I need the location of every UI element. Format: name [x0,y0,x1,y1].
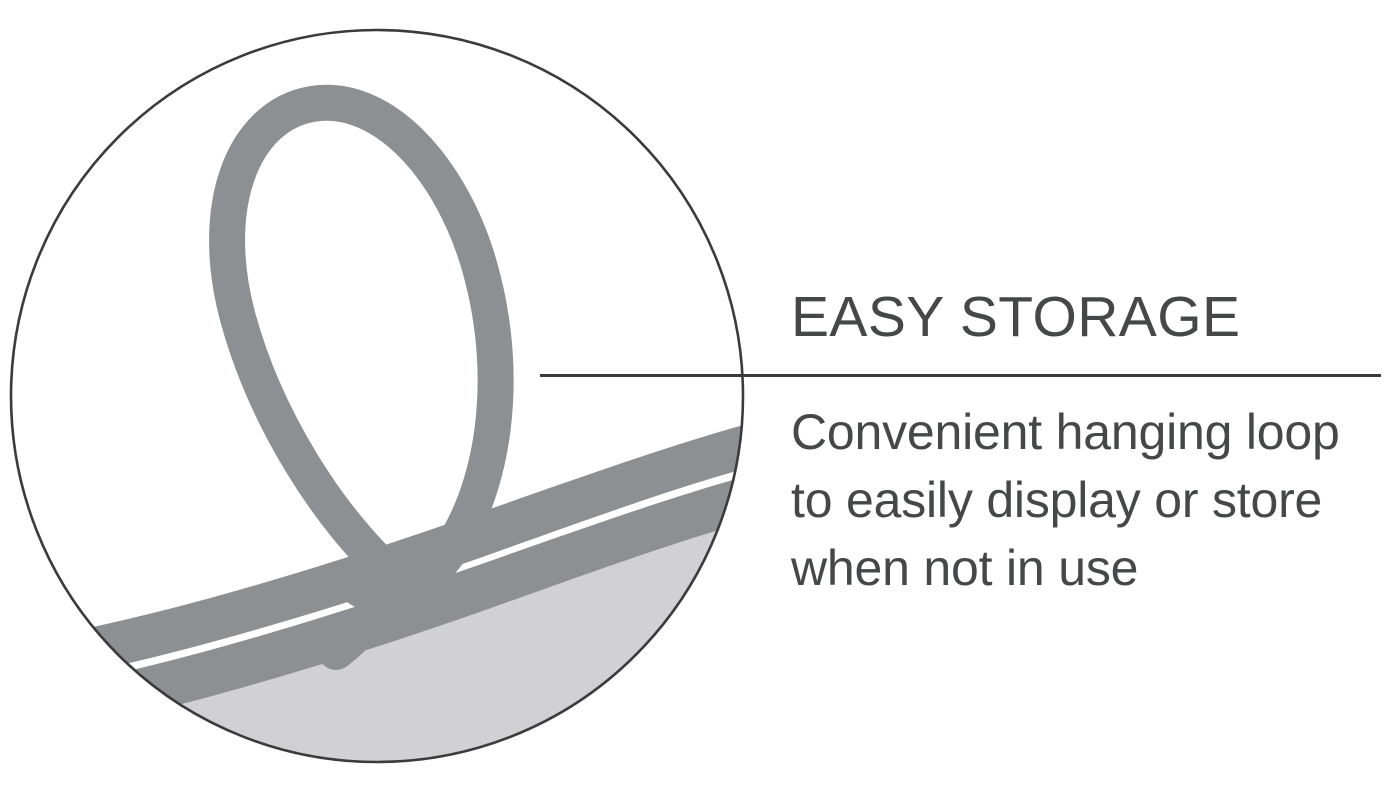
callout-description-line-3: when not in use [791,534,1371,602]
callout-description-line-1: Convenient hanging loop [791,398,1371,466]
leader-rule [540,374,1381,377]
callout-text-block: EASY STORAGE [791,282,1381,352]
page-title: EASY STORAGE [791,282,1381,352]
callout-description-line-2: to easily display or store [791,466,1371,534]
callout-description: Convenient hanging loop to easily displa… [791,398,1371,602]
feature-callout-graphic: EASY STORAGE Convenient hanging loop to … [0,0,1387,805]
